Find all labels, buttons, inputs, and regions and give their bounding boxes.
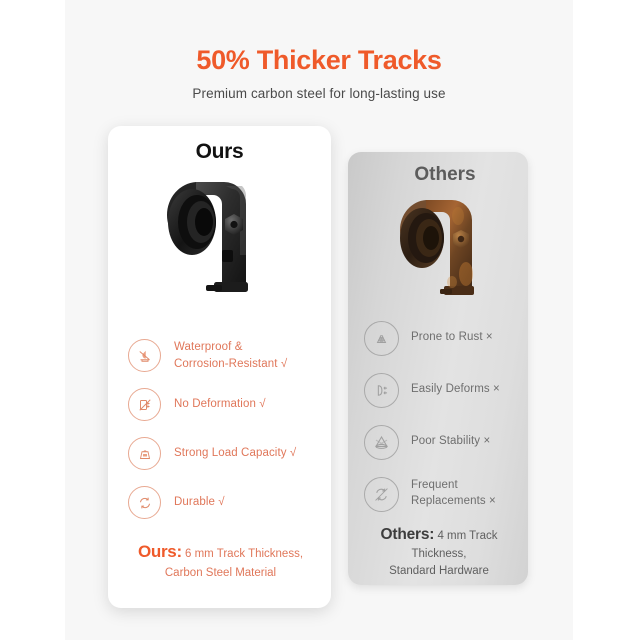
- others-feature-label: Prone to Rust ×: [411, 330, 493, 346]
- others-feature-line1: Frequent: [411, 479, 458, 491]
- page-subtitle: Premium carbon steel for long-lasting us…: [65, 86, 573, 101]
- others-feature-item: Frequent Replacements ×: [364, 468, 518, 520]
- ours-feature-line1: No Deformation √: [174, 398, 266, 410]
- others-feature-line1: Poor Stability ×: [411, 435, 490, 447]
- ours-feature-line1: Waterproof &: [174, 341, 243, 353]
- header: 50% Thicker Tracks Premium carbon steel …: [65, 46, 573, 101]
- ours-card-title: Ours: [108, 140, 331, 164]
- water-drop-no-icon: [128, 339, 161, 372]
- others-feature-label: Frequent Replacements ×: [411, 478, 496, 509]
- ours-feature-label: Durable √: [174, 494, 225, 510]
- others-feature-list: Prone to Rust × Easily Deforms ×: [364, 312, 518, 520]
- ours-feature-line2: Corrosion-Resistant √: [174, 358, 287, 370]
- cycle-arrows-icon: [128, 486, 161, 519]
- others-summary: Others: 4 mm Track Thickness, Standard H…: [358, 524, 520, 580]
- ours-summary-line2: Carbon Steel Material: [165, 567, 276, 579]
- no-deformation-icon: [128, 388, 161, 421]
- ours-product-image: [108, 164, 331, 324]
- others-feature-label: Easily Deforms ×: [411, 382, 500, 398]
- ours-feature-item: Strong Load Capacity √: [128, 429, 321, 478]
- ours-feature-label: Waterproof & Corrosion-Resistant √: [174, 339, 287, 371]
- others-feature-item: Poor Stability ×: [364, 416, 518, 468]
- others-feature-item: Prone to Rust ×: [364, 312, 518, 364]
- others-card: Others: [348, 152, 528, 585]
- deform-arrows-icon: [364, 373, 399, 408]
- ours-feature-item: Waterproof & Corrosion-Resistant √: [128, 331, 321, 380]
- unstable-cone-icon: [364, 425, 399, 460]
- others-feature-line1: Prone to Rust ×: [411, 331, 493, 343]
- rusty-roller-illustration: [348, 186, 528, 322]
- weight-kg-icon: [128, 437, 161, 470]
- others-summary-line3: Standard Hardware: [389, 565, 489, 577]
- others-summary-line1: 4 mm Track: [437, 530, 497, 542]
- others-summary-line2: Thickness,: [412, 548, 467, 560]
- ours-feature-item: No Deformation √: [128, 380, 321, 429]
- others-feature-line1: Easily Deforms ×: [411, 383, 500, 395]
- ours-feature-line1: Strong Load Capacity √: [174, 447, 296, 459]
- others-card-title: Others: [348, 164, 528, 186]
- others-feature-item: Easily Deforms ×: [364, 364, 518, 416]
- replacement-cycle-no-icon: [364, 477, 399, 512]
- ours-summary-line1: 6 mm Track Thickness,: [185, 548, 303, 560]
- ours-feature-label: No Deformation √: [174, 396, 266, 412]
- others-product-image: [348, 186, 528, 322]
- ours-feature-item: Durable √: [128, 478, 321, 527]
- ours-summary: Ours: 6 mm Track Thickness, Carbon Steel…: [120, 540, 321, 581]
- ours-card: Ours: [108, 126, 331, 608]
- ours-feature-list: Waterproof & Corrosion-Resistant √ No De…: [128, 331, 321, 527]
- black-roller-illustration: [108, 164, 331, 324]
- page-title: 50% Thicker Tracks: [65, 46, 573, 76]
- comparison-infographic: 50% Thicker Tracks Premium carbon steel …: [0, 0, 640, 640]
- others-feature-label: Poor Stability ×: [411, 434, 490, 450]
- ours-feature-line1: Durable √: [174, 496, 225, 508]
- ours-summary-label: Ours:: [138, 542, 182, 561]
- others-summary-label: Others:: [381, 526, 435, 543]
- ours-feature-label: Strong Load Capacity √: [174, 445, 296, 461]
- rust-layers-icon: [364, 321, 399, 356]
- others-feature-line2: Replacements ×: [411, 495, 496, 507]
